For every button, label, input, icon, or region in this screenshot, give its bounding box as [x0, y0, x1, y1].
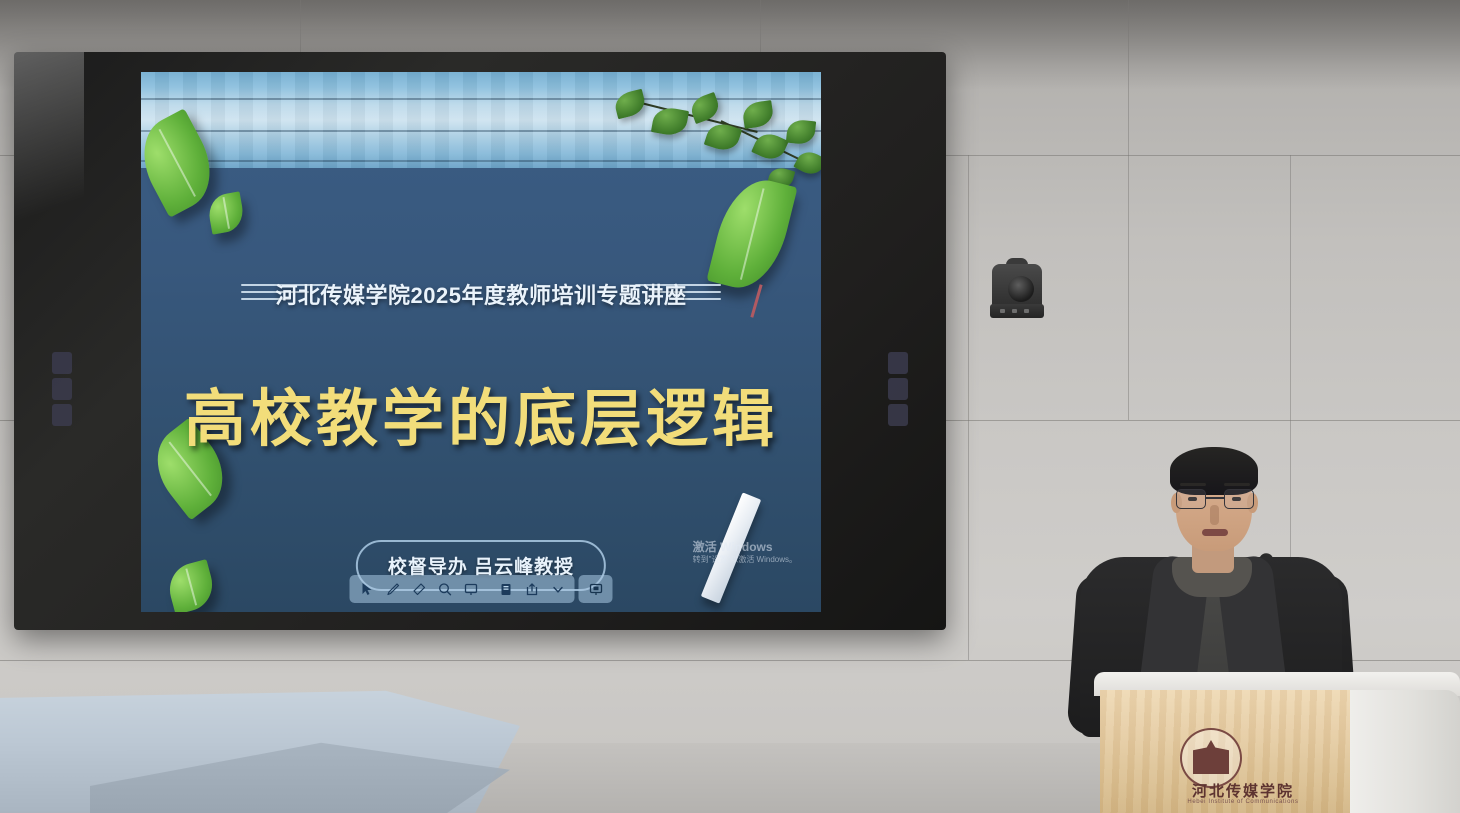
bezel-button-group-right[interactable]: [888, 352, 908, 430]
presentation-slide[interactable]: 河北传媒学院2025年度教师培训专题讲座 高校教学的底层逻辑 校督导办 吕云峰教…: [141, 72, 821, 612]
glasses-lens-right: [1224, 489, 1254, 509]
glasses-lens-left: [1176, 489, 1206, 509]
camera-base: [990, 304, 1044, 318]
emblem-subtext: Hebei Institute of Communications: [1168, 799, 1318, 805]
wall-mounted-display[interactable]: 河北传媒学院2025年度教师培训专题讲座 高校教学的底层逻辑 校督导办 吕云峰教…: [14, 52, 946, 630]
lecture-hall-scene: 河北传媒学院2025年度教师培训专题讲座 高校教学的底层逻辑 校督导办 吕云峰教…: [0, 0, 1460, 813]
notes-icon[interactable]: [494, 578, 518, 600]
nose: [1210, 505, 1219, 525]
leaf-bottom-left: [164, 559, 218, 612]
camera-led: [1012, 309, 1017, 313]
watermark-title: 激活 Windows: [693, 539, 797, 555]
chevron-down-icon[interactable]: [546, 578, 570, 600]
university-emblem-icon: [1180, 728, 1242, 788]
bezel-button-group-left[interactable]: [52, 352, 72, 430]
ptz-camera: [988, 258, 1046, 320]
wall-seam: [1128, 0, 1129, 420]
pointer-icon[interactable]: [355, 578, 379, 600]
bezel-button[interactable]: [888, 378, 908, 400]
toolbar-main-group[interactable]: [350, 575, 575, 603]
presenter-view-icon[interactable]: [584, 578, 608, 600]
pen-icon[interactable]: [381, 578, 405, 600]
magnifier-icon[interactable]: [433, 578, 457, 600]
bezel-glare: [14, 52, 84, 312]
camera-body: [992, 264, 1042, 308]
hair: [1170, 447, 1258, 495]
eyebrow-left: [1180, 483, 1206, 486]
toolbar-secondary-group[interactable]: [579, 575, 613, 603]
slide-title: 高校教学的底层逻辑: [141, 368, 821, 458]
mouth: [1202, 529, 1228, 536]
emblem-text: 河北传媒学院: [1168, 780, 1318, 801]
bezel-button[interactable]: [888, 352, 908, 374]
camera-led: [1024, 309, 1029, 313]
camera-led: [1000, 309, 1005, 313]
eraser-icon[interactable]: [407, 578, 431, 600]
wall-seam: [968, 155, 969, 660]
bezel-button[interactable]: [52, 378, 72, 400]
watermark-subtitle: 转到"设置"以激活 Windows。: [693, 555, 797, 566]
bezel-button[interactable]: [888, 404, 908, 426]
podium-side-panel: [1350, 690, 1460, 813]
camera-lens-icon: [1008, 276, 1034, 302]
windows-activation-watermark: 激活 Windows 转到"设置"以激活 Windows。: [693, 539, 797, 566]
glasses-bridge: [1206, 497, 1224, 499]
presenter-toolbar[interactable]: [350, 575, 613, 603]
bezel-button[interactable]: [52, 352, 72, 374]
eyebrow-right: [1224, 483, 1250, 486]
leaf-small-left: [206, 191, 246, 234]
laser-pointer-icon[interactable]: [459, 578, 483, 600]
bezel-button[interactable]: [52, 404, 72, 426]
share-icon[interactable]: [520, 578, 544, 600]
vine-top-right: [611, 86, 821, 190]
slide-subtitle: 河北传媒学院2025年度教师培训专题讲座: [141, 278, 821, 310]
